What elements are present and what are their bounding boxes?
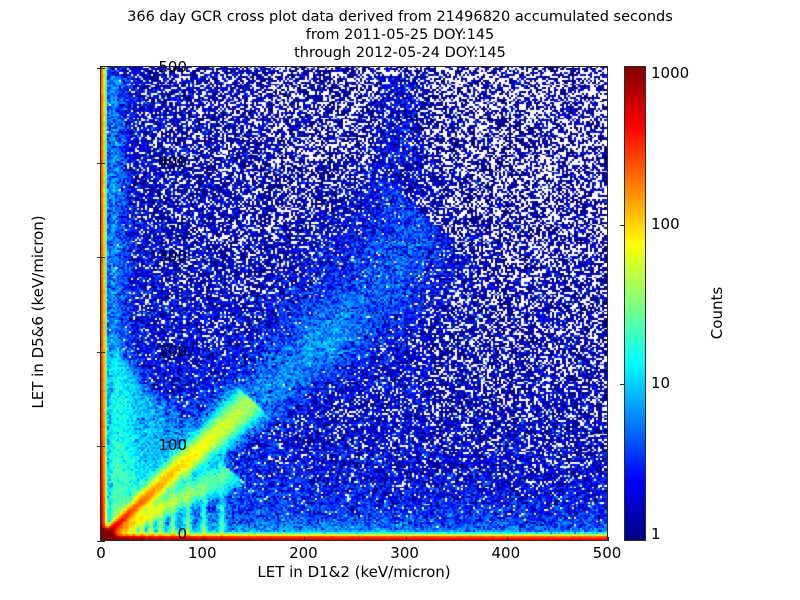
colorbar-label: Counts [708,233,726,393]
x-tick-mark-inner [304,537,305,541]
x-tick-label: 200 [289,544,318,562]
y-tick-mark-inner [101,257,105,258]
x-tick-mark-inner [203,537,204,541]
y-tick-label: 0 [177,525,187,543]
y-tick-mark-inner [101,163,105,164]
colorbar-tick-label: 10 [651,374,670,392]
colorbar-gradient [625,67,645,540]
figure: 366 day GCR cross plot data derived from… [0,0,800,600]
x-tick-label: 300 [390,544,419,562]
y-tick-mark-inner [101,446,105,447]
colorbar [624,66,646,541]
colorbar-tick-label: 1000 [651,64,689,82]
colorbar-tick-mark [620,384,625,385]
y-tick-mark-inner [101,541,105,542]
y-tick-label: 500 [158,58,187,76]
x-tick-mark-inner [608,537,609,541]
plot-area [100,66,608,541]
x-tick-mark-inner [406,537,407,541]
density-scatter-canvas [101,67,607,540]
colorbar-tick-label: 100 [651,215,680,233]
chart-title-line-2: from 2011-05-25 DOY:145 [0,26,800,44]
y-tick-label: 400 [158,153,187,171]
y-tick-label: 300 [158,247,187,265]
x-tick-label: 400 [491,544,520,562]
y-tick-mark-inner [101,68,105,69]
x-tick-mark-inner [102,537,103,541]
colorbar-tick-label: 1 [651,525,661,543]
x-tick-label: 500 [593,544,622,562]
y-axis-label: LET in D5&6 (keV/micron) [29,182,47,442]
x-tick-label: 0 [96,544,106,562]
chart-title: 366 day GCR cross plot data derived from… [0,8,800,62]
y-tick-label: 100 [158,436,187,454]
y-tick-mark-inner [101,352,105,353]
chart-title-line-1: 366 day GCR cross plot data derived from… [0,8,800,26]
x-tick-label: 100 [188,544,217,562]
chart-title-line-3: through 2012-05-24 DOY:145 [0,44,800,62]
y-tick-label: 200 [158,342,187,360]
x-tick-mark-inner [507,537,508,541]
x-axis-label: LET in D1&2 (keV/micron) [100,563,608,581]
colorbar-tick-mark [620,225,625,226]
